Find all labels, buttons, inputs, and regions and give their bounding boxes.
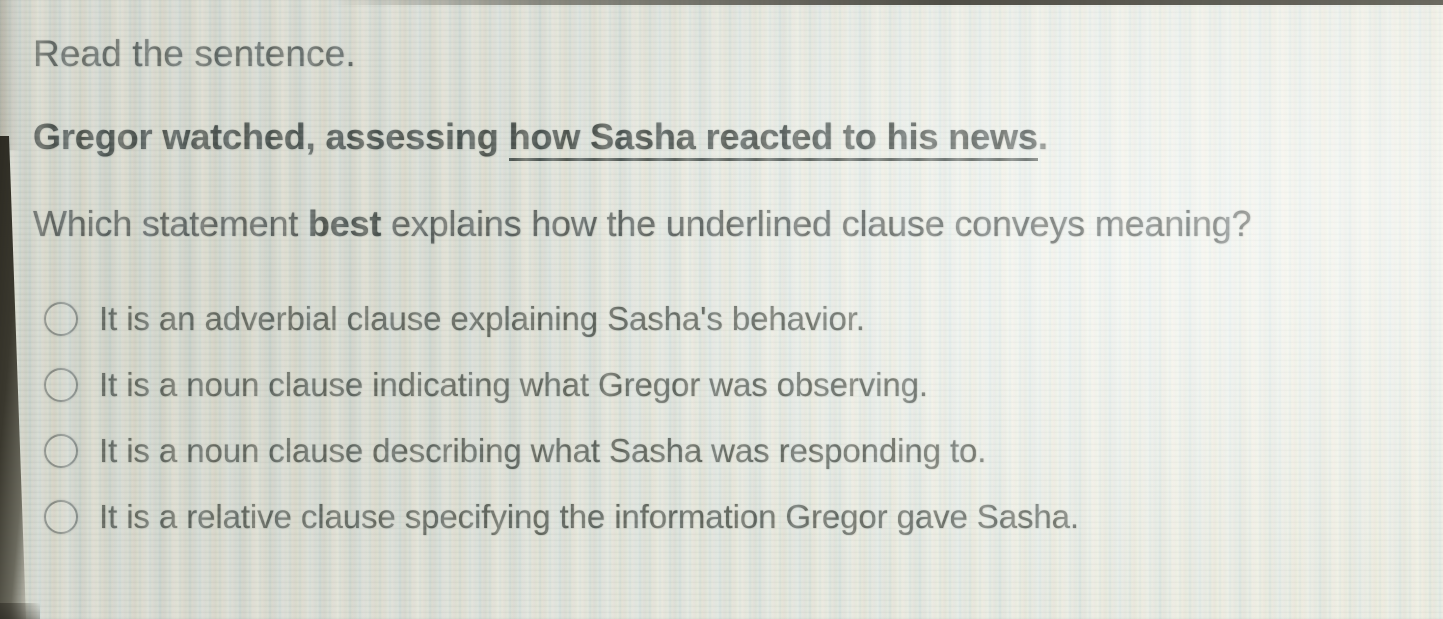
question-part-two: explains how the underlined clause conve… [381, 203, 1251, 244]
bezel-top-edge [330, 0, 1443, 5]
bezel-bottom-corner [0, 603, 40, 619]
answer-option-c[interactable]: It is a noun clause describing what Sash… [44, 418, 1079, 484]
answer-options-list: It is an adverbial clause explaining Sas… [44, 286, 1079, 550]
sentence-prefix: Gregor watched, assessing [33, 116, 509, 157]
radio-button-icon-d[interactable] [44, 500, 78, 534]
answer-option-d[interactable]: It is a relative clause specifying the i… [44, 484, 1079, 550]
question-part-one: Which statement [33, 203, 308, 244]
answer-option-b-label: It is a noun clause indicating what Greg… [99, 366, 928, 404]
photographed-screen: Read the sentence. Gregor watched, asses… [0, 0, 1443, 619]
question-content: Read the sentence. Gregor watched, asses… [0, 0, 1443, 619]
answer-option-b[interactable]: It is a noun clause indicating what Greg… [44, 352, 1079, 418]
bezel-left-shadow [0, 0, 22, 150]
underlined-clause: how Sasha reacted to his news [509, 116, 1038, 161]
sentence-period: . [1038, 116, 1048, 157]
radio-button-icon-b[interactable] [44, 368, 78, 402]
answer-option-a[interactable]: It is an adverbial clause explaining Sas… [44, 286, 1079, 352]
radio-button-icon-a[interactable] [44, 302, 78, 336]
question-emphasis-best: best [308, 203, 381, 244]
radio-button-icon-c[interactable] [44, 434, 78, 468]
answer-option-c-label: It is a noun clause describing what Sash… [99, 432, 986, 470]
answer-option-d-label: It is a relative clause specifying the i… [99, 498, 1079, 536]
example-sentence: Gregor watched, assessing how Sasha reac… [33, 116, 1048, 158]
instruction-text: Read the sentence. [33, 33, 356, 75]
answer-option-a-label: It is an adverbial clause explaining Sas… [99, 300, 865, 338]
question-text: Which statement best explains how the un… [33, 203, 1251, 245]
